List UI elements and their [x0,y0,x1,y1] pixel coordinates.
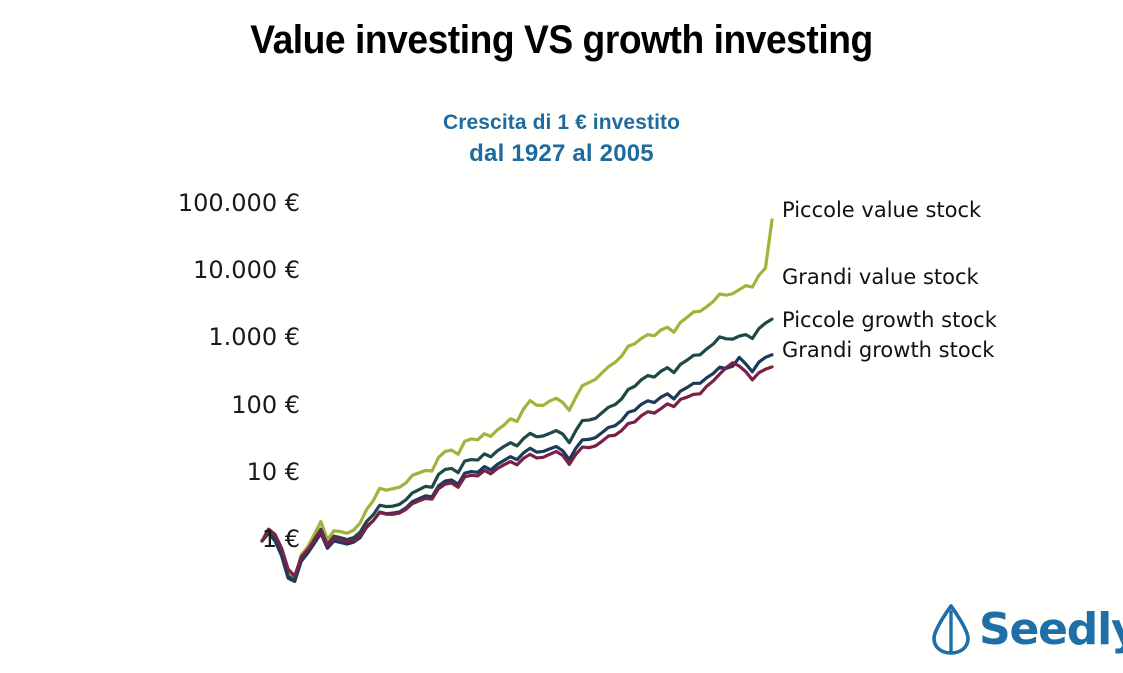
chart-plot-area [0,0,1123,673]
chart-page: Value investing VS growth investing Cres… [0,0,1123,673]
series-line-3 [262,363,772,576]
water-drop-icon [930,603,972,655]
brand-name: Seedly [979,608,1123,652]
series-line-2 [262,355,772,582]
series-line-0 [262,220,772,579]
seedly-logo: Seedly [930,603,1123,655]
